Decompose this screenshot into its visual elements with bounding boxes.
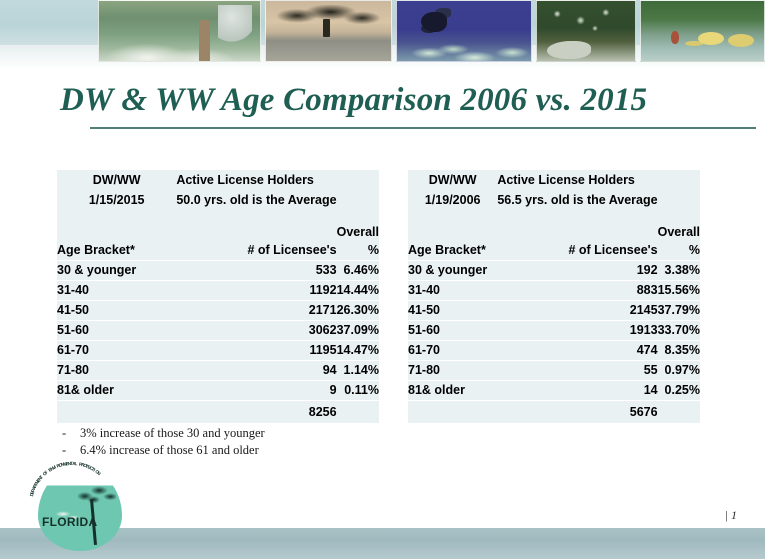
table-row: 51-60 3062 37.09% (57, 321, 379, 341)
licensee-count-cell: 1192 (176, 281, 336, 301)
age-bracket-cell: 71-80 (408, 361, 497, 381)
overall-pct-cell: 3.38% (658, 261, 700, 281)
table-row: 51-60 1913 33.70% (408, 321, 700, 341)
table-row: 30 & younger 533 6.46% (57, 261, 379, 281)
licensee-count-cell: 883 (497, 281, 657, 301)
table-row: Overall (408, 224, 700, 241)
column-header-bracket: Age Bracket* (57, 241, 176, 261)
age-bracket-cell: 41-50 (57, 301, 176, 321)
scuba-diver-photo (396, 0, 532, 62)
header-photo-strip (98, 0, 765, 62)
overall-pct-cell: 37.09% (337, 321, 379, 341)
table-row: 1/19/2006 56.5 yrs. old is the Average (408, 190, 700, 210)
header-banner (0, 0, 765, 70)
date-label: 1/15/2015 (57, 190, 176, 210)
note-text: 3% increase of those 30 and younger (80, 425, 265, 442)
table-total-row: 8256 (57, 401, 379, 424)
wading-birds-photo (536, 0, 637, 62)
licensee-count-cell: 3062 (176, 321, 336, 341)
table-spacer-row (57, 210, 379, 224)
table-row: 71-80 94 1.14% (57, 361, 379, 381)
total-count-cell: 5676 (497, 401, 657, 424)
column-header-pct-line2: % (337, 241, 379, 261)
table-row: 31-40 1192 14.44% (57, 281, 379, 301)
table-2015: DW/WW Active License Holders 1/15/2015 5… (57, 170, 379, 423)
licensee-count-cell: 2145 (497, 301, 657, 321)
overall-pct-cell: 0.97% (658, 361, 700, 381)
total-count-cell: 8256 (176, 401, 336, 424)
category-label: Active License Holders (176, 170, 336, 190)
dash-marker-icon: - (62, 442, 70, 459)
age-bracket-cell: 71-80 (57, 361, 176, 381)
table-row: 41-50 2171 26.30% (57, 301, 379, 321)
date-label: 1/19/2006 (408, 190, 497, 210)
overall-pct-cell: 15.56% (658, 281, 700, 301)
table-row: DW/WW Active License Holders (57, 170, 379, 190)
oak-tree-at-dusk-photo (265, 0, 392, 62)
note-text: 6.4% increase of those 61 and older (80, 442, 259, 459)
title-underline-rule (90, 127, 756, 129)
overall-pct-cell: 14.47% (337, 341, 379, 361)
slide-title: DW & WW Age Comparison 2006 vs. 2015 (60, 82, 760, 119)
program-label: DW/WW (57, 170, 176, 190)
table-2006: DW/WW Active License Holders 1/19/2006 5… (408, 170, 700, 423)
table-header-row: Age Bracket* # of Licensee's % (57, 241, 379, 261)
logo-wordmark: FLORIDA (42, 515, 97, 529)
table-row: 31-40 883 15.56% (408, 281, 700, 301)
list-item: - 6.4% increase of those 61 and older (62, 442, 265, 459)
page-number: | 1 (725, 508, 737, 523)
licensee-count-cell: 192 (497, 261, 657, 281)
column-header-pct-line2: % (658, 241, 700, 261)
age-bracket-cell: 81& older (408, 381, 497, 401)
licensee-count-cell: 1195 (176, 341, 336, 361)
licensee-count-cell: 1913 (497, 321, 657, 341)
age-bracket-cell: 51-60 (408, 321, 497, 341)
overall-pct-cell: 1.14% (337, 361, 379, 381)
palm-fronds-icon (76, 483, 116, 505)
age-bracket-cell: 61-70 (408, 341, 497, 361)
table-row: DW/WW Active License Holders (408, 170, 700, 190)
table-header-row: Age Bracket* # of Licensee's % (408, 241, 700, 261)
column-header-pct-line1: Overall (658, 224, 700, 241)
overall-pct-cell: 6.46% (337, 261, 379, 281)
average-label: 50.0 yrs. old is the Average (176, 190, 336, 210)
table-total-row: 5676 (408, 401, 700, 424)
table-row: 61-70 474 8.35% (408, 341, 700, 361)
overall-pct-cell: 37.79% (658, 301, 700, 321)
table-row: 61-70 1195 14.47% (57, 341, 379, 361)
licensee-count-cell: 2171 (176, 301, 336, 321)
overall-pct-cell: 8.35% (658, 341, 700, 361)
overall-pct-cell: 14.44% (337, 281, 379, 301)
age-bracket-cell: 41-50 (408, 301, 497, 321)
age-bracket-cell: 31-40 (408, 281, 497, 301)
column-header-pct-line1: Overall (337, 224, 379, 241)
table-row: 41-50 2145 37.79% (408, 301, 700, 321)
age-bracket-cell: 31-40 (57, 281, 176, 301)
licensee-count-cell: 9 (176, 381, 336, 401)
overall-pct-cell: 0.11% (337, 381, 379, 401)
licensee-count-cell: 474 (497, 341, 657, 361)
age-bracket-cell: 30 & younger (408, 261, 497, 281)
overall-pct-cell: 33.70% (658, 321, 700, 341)
age-bracket-cell: 30 & younger (57, 261, 176, 281)
table-row: 30 & younger 192 3.38% (408, 261, 700, 281)
overall-pct-cell: 26.30% (337, 301, 379, 321)
age-bracket-cell: 61-70 (57, 341, 176, 361)
river-tubing-photo (640, 0, 765, 62)
canoes-on-river-photo (98, 0, 261, 62)
table-row: 81& older 9 0.11% (57, 381, 379, 401)
licensee-count-cell: 55 (497, 361, 657, 381)
column-header-count: # of Licensee's (497, 241, 657, 261)
category-label: Active License Holders (497, 170, 657, 190)
age-bracket-cell: 51-60 (57, 321, 176, 341)
notes-list: - 3% increase of those 30 and younger - … (62, 425, 265, 459)
licensee-count-cell: 533 (176, 261, 336, 281)
average-label: 56.5 yrs. old is the Average (497, 190, 657, 210)
overall-pct-cell: 0.25% (658, 381, 700, 401)
florida-dep-logo: DEPARTMENT OF ENVIRONMENTAL PROTECTION F… (20, 479, 142, 551)
program-label: DW/WW (408, 170, 497, 190)
licensee-count-cell: 94 (176, 361, 336, 381)
list-item: - 3% increase of those 30 and younger (62, 425, 265, 442)
table-row: 71-80 55 0.97% (408, 361, 700, 381)
table-spacer-row (408, 210, 700, 224)
age-bracket-cell: 81& older (57, 381, 176, 401)
column-header-bracket: Age Bracket* (408, 241, 497, 261)
table-row: 1/15/2015 50.0 yrs. old is the Average (57, 190, 379, 210)
table-row: 81& older 14 0.25% (408, 381, 700, 401)
dash-marker-icon: - (62, 425, 70, 442)
table-row: Overall (57, 224, 379, 241)
licensee-count-cell: 14 (497, 381, 657, 401)
column-header-count: # of Licensee's (176, 241, 336, 261)
